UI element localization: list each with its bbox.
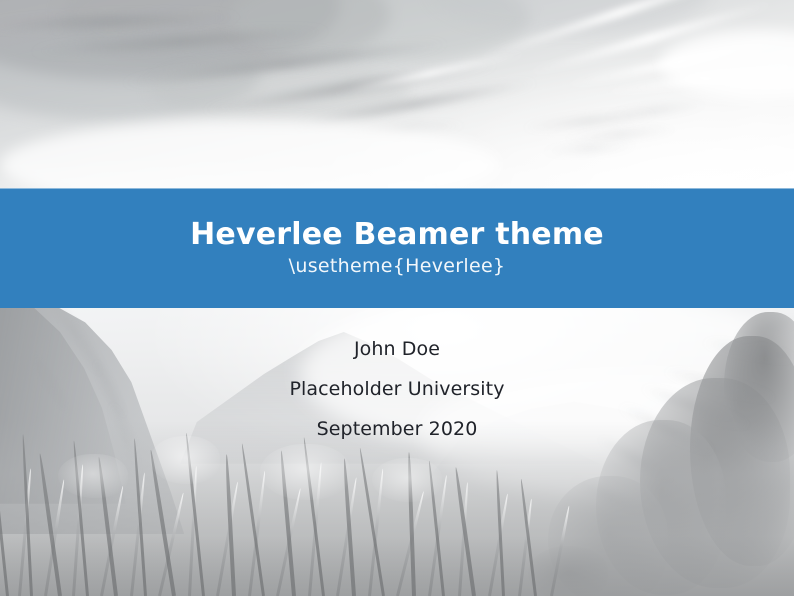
beamer-title-slide: Heverlee Beamer theme \usetheme{Heverlee…	[0, 0, 794, 596]
sky-photo	[0, 0, 794, 188]
band-top-hairline	[0, 188, 794, 189]
landscape-photo	[0, 308, 794, 596]
page-title: Heverlee Beamer theme	[190, 219, 604, 251]
page-subtitle: \usetheme{Heverlee}	[289, 256, 506, 277]
title-band: Heverlee Beamer theme \usetheme{Heverlee…	[0, 188, 794, 308]
